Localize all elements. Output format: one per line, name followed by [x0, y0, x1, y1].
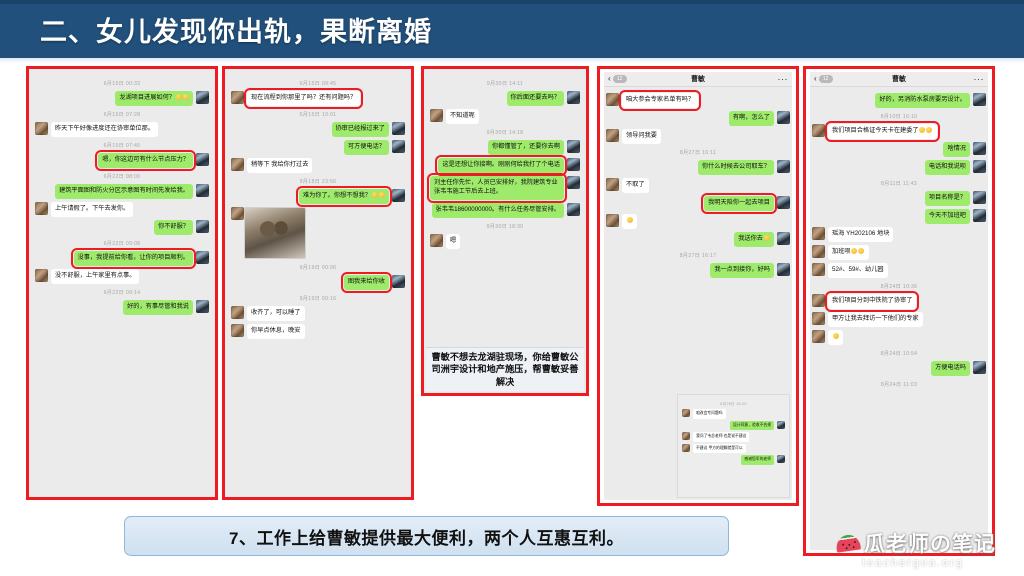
message-row: 稍等下 我给你打过去 — [231, 158, 405, 173]
message-bubble[interactable]: 我送你去 — [734, 232, 774, 247]
message-timestamp: 9月18日 23:56 — [231, 178, 405, 185]
message-timestamp: 9月19日 00:06 — [231, 264, 405, 271]
message-bubble[interactable]: 咱大参会专家名单有吗？ — [622, 93, 698, 108]
message-row: 可方便电话？ — [231, 140, 405, 155]
avatar-self[interactable] — [567, 140, 580, 153]
chat-contact-name-5: 曹敏 — [810, 74, 988, 84]
message-row: 我们项目合格证今天卡在建委了 — [812, 124, 986, 139]
message-row: 我送你去 — [606, 232, 790, 247]
avatar-self[interactable] — [196, 251, 209, 264]
avatar-self[interactable] — [392, 122, 405, 135]
message-row: 难为你了。你想不想我？ — [231, 189, 405, 204]
message-bubble[interactable]: 稍等下 我给你打过去 — [247, 158, 312, 173]
message-bubble[interactable]: 现在流程到你那里了吗？还有问题吗？ — [247, 91, 360, 106]
message-bubble[interactable]: 咱改会专问题吗 — [693, 409, 726, 419]
avatar-self[interactable] — [567, 158, 580, 171]
avatar-contact[interactable] — [35, 202, 48, 215]
message-bubble[interactable]: 我们项目合格证今天卡在建委了 — [828, 124, 937, 139]
avatar-self[interactable] — [973, 209, 986, 222]
avatar-self[interactable] — [567, 91, 580, 104]
emoji-icon — [926, 127, 932, 133]
message-timestamp: 9月30日 18:30 — [430, 223, 580, 230]
column-3-annotation: 曹敏不想去龙湖驻现场，你给曹敏公司洲宇设计和地产施压，帮曹敏妥善解决 — [426, 347, 584, 391]
message-row: 你早点休息，晚安 — [231, 324, 405, 339]
avatar-self[interactable] — [196, 220, 209, 233]
chat-column-4[interactable]: ‹ 12 曹敏 ··· 咱大参会专家名单有吗？有啊，怎么了领导问我要8月27日 … — [597, 66, 799, 506]
message-bubble[interactable]: 刘主任你先忙，人员已安排好，我院建筑专业张韦韦施工节后去上班。 — [430, 176, 564, 200]
message-row — [606, 214, 790, 229]
message-row: 我一点到接你，好吗 — [606, 263, 790, 278]
emoji-icon — [379, 192, 385, 198]
avatar-self[interactable] — [973, 191, 986, 204]
message-list-2: 6月15日 09:45现在流程到你那里了吗？还有问题吗？6月15日 10:01协… — [229, 72, 407, 345]
emoji-icon — [858, 248, 864, 254]
message-row: 今天不加班吧 — [812, 209, 986, 224]
message-row: 没事，我提前给你看，让你的项目顺利。 — [35, 251, 209, 266]
message-bubble[interactable]: 不取了 — [622, 178, 649, 193]
message-row — [812, 330, 986, 345]
message-row: 刘主任你先忙，人员已安排好，我院建筑专业张韦韦施工节后去上班。 — [430, 176, 580, 200]
avatar-contact[interactable] — [231, 158, 244, 171]
phone-navbar-5: ‹ 12 曹敏 ··· — [810, 72, 988, 87]
message-row: 你什么时候去公司取车？ — [606, 160, 790, 175]
message-row: 加班呗 — [812, 245, 986, 260]
message-bubble[interactable]: 加班呗 — [828, 245, 869, 260]
phone-navbar-4: ‹ 12 曹敏 ··· — [604, 72, 792, 87]
message-emoji[interactable] — [622, 214, 637, 229]
message-bubble[interactable]: 不知道呢 — [446, 109, 479, 124]
message-timestamp: 8月27日 16:17 — [606, 252, 790, 259]
message-bubble[interactable]: 嗯，你这边可有什么节点压力？ — [98, 153, 193, 168]
chat-column-2[interactable]: 6月15日 09:45现在流程到你那里了吗？还有问题吗？6月15日 10:01协… — [222, 66, 414, 500]
message-bubble[interactable]: 没事，我提前给你看，让你的项目顺利。 — [74, 251, 193, 266]
message-bubble[interactable]: 设计同意，验收不合规 — [730, 421, 774, 431]
message-bubble[interactable]: 龙湖项目进展如何？ — [115, 91, 193, 106]
avatar-self[interactable] — [777, 232, 790, 245]
header-accent-strip — [0, 0, 1024, 4]
avatar-contact[interactable] — [812, 294, 825, 307]
message-row: 有啊，怎么了 — [606, 111, 790, 126]
avatar-contact[interactable] — [231, 306, 244, 319]
message-bubble[interactable]: 上午请假了。下午去发你。 — [51, 202, 133, 217]
chat-column-4-body: ‹ 12 曹敏 ··· 咱大参会专家名单有吗？有啊，怎么了领导问我要8月27日 … — [600, 69, 796, 503]
avatar-contact[interactable] — [231, 91, 244, 104]
message-bubble[interactable]: 你早点休息，晚安 — [247, 324, 305, 339]
avatar-contact[interactable] — [812, 245, 825, 258]
message-row: 方便电话吗 — [812, 361, 986, 376]
message-bubble[interactable]: 嗯 — [446, 234, 460, 249]
message-timestamp: 6月15日 07:28 — [35, 111, 209, 118]
message-row: 我明天陪你一起去项目 — [606, 196, 790, 211]
message-bubble[interactable]: 昨天下午好像进度还在协审单位那。 — [51, 122, 158, 137]
message-list-5: 好的，另消防水泵房要另设计。8月10日 16:10我们项目合格证今天卡在建委了啥… — [810, 87, 988, 395]
message-bubble[interactable]: 你不舒服？ — [154, 220, 193, 235]
message-bubble[interactable]: 难为你了。你想不想我？ — [299, 189, 389, 204]
message-list-3: 9月30日 14:11你后面还要去吗？不知道呢9月30日 14:18你都懂管了，… — [428, 72, 582, 255]
emoji-icon — [372, 192, 378, 198]
chat-column-5-body: ‹ 12 曹敏 ··· 好的，另消防水泵房要另设计。8月10日 16:10我们项… — [806, 69, 992, 553]
header-underline — [0, 58, 1024, 63]
message-timestamp: 6月22日 09:14 — [35, 289, 209, 296]
message-row: 昨天下午好像进度还在协审单位那。 — [35, 122, 209, 137]
message-bubble[interactable]: 你都懂管了，还要你去啊 — [488, 140, 564, 155]
photo-thumbnail[interactable] — [244, 207, 306, 259]
message-bubble[interactable]: 瑶海 YH202106 地块 — [828, 227, 893, 242]
message-bubble[interactable]: 电话和我说呗 — [925, 160, 970, 175]
message-row: 不知道呢 — [430, 109, 580, 124]
avatar-contact[interactable] — [682, 444, 690, 452]
watermark-site: teachergua.org — [862, 557, 964, 569]
chat-column-2-body: 6月15日 09:45现在流程到你那里了吗？还有问题吗？6月15日 10:01协… — [225, 69, 411, 497]
avatar-contact[interactable] — [231, 207, 244, 220]
message-row: 建筑平面图和防火分区示意图有时间先发给我。 — [35, 184, 209, 199]
avatar-self[interactable] — [777, 111, 790, 124]
message-row: 现在流程到你那里了吗？还有问题吗？ — [231, 91, 405, 106]
message-row: 甲方让我去拜访一下他们的专家 — [812, 312, 986, 327]
message-row: 这是还想让你接啊。刚刚何给我打了个电话 — [430, 158, 580, 173]
chat-column-5[interactable]: ‹ 12 曹敏 ··· 好的，另消防水泵房要另设计。8月10日 16:10我们项… — [803, 66, 995, 556]
message-timestamp: 8月11日 11:43 — [812, 180, 986, 187]
message-bubble[interactable]: 有啊，怎么了 — [729, 111, 774, 126]
avatar-contact[interactable] — [35, 122, 48, 135]
avatar-contact[interactable] — [430, 109, 443, 122]
message-bubble[interactable]: 我明天陪你一起去项目 — [704, 196, 774, 211]
avatar-contact[interactable] — [682, 409, 690, 417]
message-bubble[interactable]: 我们项目分到中铁院了协审了 — [828, 294, 916, 309]
message-row: 你后面还要去吗？ — [430, 91, 580, 106]
message-row: 张韦韦18600000000。有什么任务尽管安排。 — [430, 203, 580, 218]
avatar-contact[interactable] — [812, 263, 825, 276]
message-row: 嗯 — [430, 234, 580, 249]
message-row: 啥情况 — [812, 142, 986, 157]
message-bubble[interactable]: 方便电话吗 — [931, 361, 970, 376]
message-timestamp: 6月15日 00:33 — [35, 80, 209, 87]
message-bubble[interactable]: 好的，有事尽管和我说 — [123, 300, 193, 315]
message-row: 项目名称是？ — [812, 191, 986, 206]
message-bubble[interactable]: 不建议 甲方的理解就是可以 — [693, 444, 746, 454]
message-row: 没不舒服，上午家里有点事。 — [35, 269, 209, 284]
avatar-contact[interactable] — [606, 178, 619, 191]
message-bubble[interactable]: 收齐了，可以睡了 — [247, 306, 305, 321]
avatar-self[interactable] — [392, 140, 405, 153]
message-timestamp: 6月15日 09:45 — [231, 80, 405, 87]
message-bubble[interactable]: 感谢您军的老师 — [741, 455, 774, 465]
message-row: 上午请假了。下午去发你。 — [35, 202, 209, 217]
emoji-icon — [919, 127, 925, 133]
message-timestamp: 8月28日 16:20 — [682, 402, 785, 407]
message-row: 协审已经报过来了 — [231, 122, 405, 137]
message-row: 收齐了，可以睡了 — [231, 306, 405, 321]
message-list-4: 咱大参会专家名单有吗？有啊，怎么了领导问我要8月27日 16:11你什么时候去公… — [604, 87, 792, 284]
message-row: 我问了韦总老师 也是说不建议 — [682, 432, 785, 442]
avatar-self[interactable] — [973, 142, 986, 155]
avatar-self[interactable] — [777, 455, 785, 463]
avatar-self[interactable] — [196, 184, 209, 197]
message-bubble[interactable]: 可方便电话？ — [344, 140, 389, 155]
message-row: 不建议 甲方的理解就是可以 — [682, 444, 785, 454]
message-timestamp: 6月22日 08:00 — [35, 173, 209, 180]
message-bubble[interactable]: 你后面还要去吗？ — [507, 91, 565, 106]
avatar-contact[interactable] — [812, 330, 825, 343]
message-row: 瑶海 YH202106 地块 — [812, 227, 986, 242]
message-row: 咱大参会专家名单有吗？ — [606, 93, 790, 108]
message-bubble[interactable]: 项目名称是？ — [925, 191, 970, 206]
message-row: 图我来给你收 — [231, 275, 405, 290]
message-row: 不取了 — [606, 178, 790, 193]
chat-column-1[interactable]: 6月15日 00:33龙湖项目进展如何？6月15日 07:28昨天下午好像进度还… — [26, 66, 218, 500]
message-timestamp: 9月19日 00:16 — [231, 295, 405, 302]
avatar-self[interactable] — [567, 176, 580, 189]
avatar-contact[interactable] — [606, 214, 619, 227]
emoji-icon — [627, 217, 633, 223]
avatar-self[interactable] — [973, 93, 986, 106]
avatar-contact[interactable] — [812, 124, 825, 137]
message-row: 嗯，你这边可有什么节点压力？ — [35, 153, 209, 168]
message-timestamp: 6月22日 09:08 — [35, 240, 209, 247]
message-row: 电话和我说呗 — [812, 160, 986, 175]
message-bubble[interactable]: 52#、59#、幼儿园 — [828, 263, 888, 278]
message-timestamp: 9月30日 14:11 — [430, 80, 580, 87]
avatar-contact[interactable] — [812, 227, 825, 240]
message-row: 你都懂管了，还要你去啊 — [430, 140, 580, 155]
message-list-1: 6月15日 00:33龙湖项目进展如何？6月15日 07:28昨天下午好像进度还… — [33, 72, 211, 321]
message-bubble[interactable]: 我一点到接你，好吗 — [710, 263, 774, 278]
message-row: 好的，另消防水泵房要另设计。 — [812, 93, 986, 108]
emoji-icon — [176, 94, 182, 100]
message-bubble[interactable]: 你什么时候去公司取车？ — [698, 160, 774, 175]
message-bubble[interactable]: 今天不加班吧 — [925, 209, 970, 224]
emoji-icon — [764, 235, 770, 241]
avatar-self[interactable] — [392, 189, 405, 202]
message-timestamp: 6月15日 10:01 — [231, 111, 405, 118]
message-timestamp: 6月15日 07:45 — [35, 142, 209, 149]
avatar-self[interactable] — [392, 275, 405, 288]
avatar-contact[interactable] — [606, 93, 619, 106]
page-title: 二、女儿发现你出轨，果断离婚 — [40, 10, 432, 49]
message-row: 咱改会专问题吗 — [682, 409, 785, 419]
message-emoji[interactable] — [828, 330, 843, 345]
message-timestamp: 8月27日 16:11 — [606, 149, 790, 156]
avatar-contact[interactable] — [231, 324, 244, 337]
bottom-caption-box: 7、工作上给曹敏提供最大便利，两个人互惠互利。 — [124, 516, 729, 556]
avatar-self[interactable] — [777, 160, 790, 173]
bottom-caption-text: 7、工作上给曹敏提供最大便利，两个人互惠互利。 — [229, 524, 624, 549]
message-bubble[interactable]: 没不舒服，上午家里有点事。 — [51, 269, 139, 284]
avatar-self[interactable] — [196, 300, 209, 313]
emoji-icon — [833, 333, 839, 339]
message-row: 领导问我要 — [606, 129, 790, 144]
message-row: 好的，有事尽管和我说 — [35, 300, 209, 315]
nested-message-list-4: 8月28日 16:20咱改会专问题吗设计同意，验收不合规我问了韦总老师 也是说不… — [680, 397, 787, 470]
message-bubble[interactable]: 图我来给你收 — [344, 275, 389, 290]
message-row: 我们项目分到中铁院了协审了 — [812, 294, 986, 309]
avatar-self[interactable] — [567, 203, 580, 216]
nested-screenshot-4: 8月28日 16:20咱改会专问题吗设计同意，验收不合规我问了韦总老师 也是说不… — [677, 394, 790, 498]
avatar-self[interactable] — [777, 421, 785, 429]
message-timestamp: 8月24日 10:54 — [812, 350, 986, 357]
message-image[interactable] — [244, 207, 306, 259]
message-bubble[interactable]: 领导问我要 — [622, 129, 661, 144]
message-bubble[interactable]: 甲方让我去拜访一下他们的专家 — [828, 312, 923, 327]
message-row: 龙湖项目进展如何？ — [35, 91, 209, 106]
message-row: 感谢您军的老师 — [682, 455, 785, 465]
message-bubble[interactable]: 张韦韦18600000000。有什么任务尽管安排。 — [432, 203, 564, 218]
avatar-self[interactable] — [973, 361, 986, 374]
avatar-contact[interactable] — [35, 269, 48, 282]
message-timestamp: 8月24日 11:03 — [812, 381, 986, 388]
message-row: 设计同意，验收不合规 — [682, 421, 785, 431]
message-row — [231, 207, 405, 259]
emoji-icon — [851, 248, 857, 254]
avatar-self[interactable] — [777, 263, 790, 276]
message-row: 你不舒服？ — [35, 220, 209, 235]
avatar-self[interactable] — [973, 160, 986, 173]
message-row: 52#、59#、幼儿园 — [812, 263, 986, 278]
message-timestamp: 8月24日 10:36 — [812, 283, 986, 290]
message-bubble[interactable]: 协审已经报过来了 — [332, 122, 390, 137]
avatar-self[interactable] — [777, 196, 790, 209]
message-bubble[interactable]: 我问了韦总老师 也是说不建议 — [693, 432, 749, 442]
avatar-self[interactable] — [196, 91, 209, 104]
avatar-self[interactable] — [196, 153, 209, 166]
avatar-contact[interactable] — [812, 312, 825, 325]
message-bubble[interactable]: 好的，另消防水泵房要另设计。 — [875, 93, 970, 108]
avatar-contact[interactable] — [682, 432, 690, 440]
message-timestamp: 8月10日 16:10 — [812, 113, 986, 120]
chat-column-3-body: 9月30日 14:11你后面还要去吗？不知道呢9月30日 14:18你都懂管了，… — [424, 69, 586, 393]
message-timestamp: 9月30日 14:18 — [430, 129, 580, 136]
chat-column-3[interactable]: 9月30日 14:11你后面还要去吗？不知道呢9月30日 14:18你都懂管了，… — [421, 66, 589, 396]
avatar-contact[interactable] — [606, 129, 619, 142]
slide-header: 二、女儿发现你出轨，果断离婚 — [0, 0, 1024, 58]
message-bubble[interactable]: 建筑平面图和防火分区示意图有时间先发给我。 — [55, 184, 193, 199]
message-bubble[interactable]: 这是还想让你接啊。刚刚何给我打了个电话 — [438, 158, 564, 173]
avatar-contact[interactable] — [430, 234, 443, 247]
chat-column-1-body: 6月15日 00:33龙湖项目进展如何？6月15日 07:28昨天下午好像进度还… — [29, 69, 215, 497]
chat-contact-name-4: 曹敏 — [604, 74, 792, 84]
message-bubble[interactable]: 啥情况 — [943, 142, 970, 157]
emoji-icon — [183, 94, 189, 100]
